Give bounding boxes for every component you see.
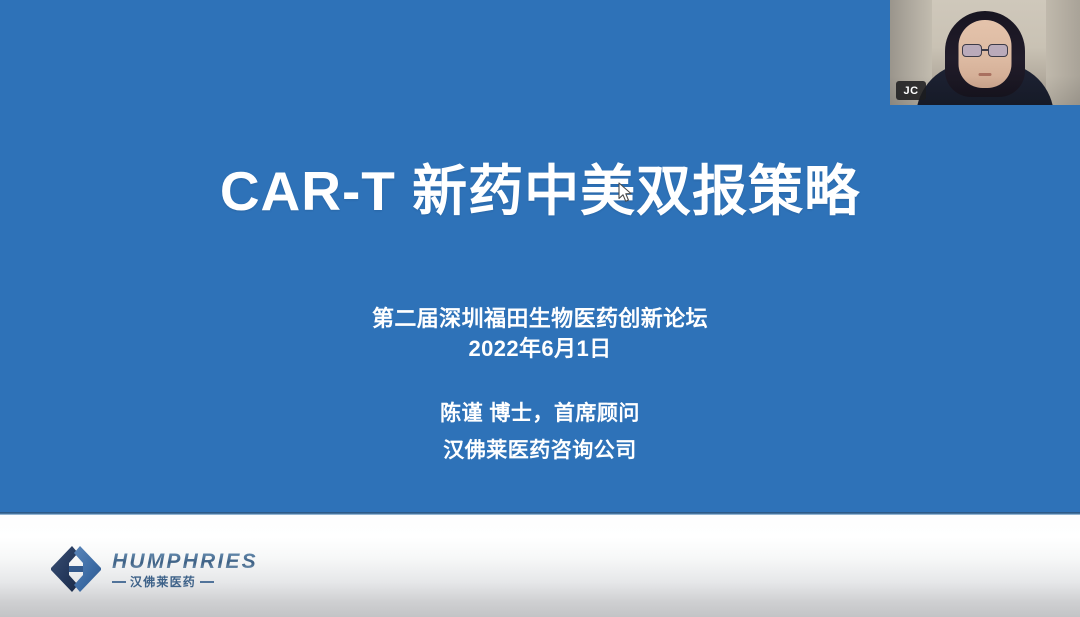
presenter-info-block: 陈谨 博士，首席顾问 汉佛莱医药咨询公司 xyxy=(0,395,1080,470)
presenter-name-title: 陈谨 博士，首席顾问 xyxy=(0,395,1080,432)
company-logo: HUMPHRIES 汉佛莱医药 xyxy=(48,540,268,598)
glasses-lens-left xyxy=(962,44,982,57)
video-wall-right xyxy=(1046,0,1080,105)
participant-mouth xyxy=(979,73,992,76)
logo-sub-wordmark-text: 汉佛莱医药 xyxy=(130,576,196,588)
participant-video-tile[interactable]: JC xyxy=(890,0,1080,105)
glasses-bridge xyxy=(981,49,989,51)
participant-initials-badge: JC xyxy=(896,81,926,100)
logo-sub-wordmark: 汉佛莱医药 xyxy=(112,576,258,588)
event-date: 2022年6月1日 xyxy=(0,334,1080,364)
slide-title: CAR-T 新药中美双报策略 xyxy=(0,160,1080,223)
logo-rule-right xyxy=(200,581,214,583)
logo-rule-left xyxy=(112,581,126,583)
humphries-h-monogram-icon xyxy=(48,542,104,596)
participant-glasses-icon xyxy=(961,44,1009,56)
event-info-block: 第二届深圳福田生物医药创新论坛 2022年6月1日 xyxy=(0,304,1080,365)
glasses-lens-right xyxy=(988,44,1008,57)
logo-text-lockup: HUMPHRIES 汉佛莱医药 xyxy=(112,545,258,593)
logo-wordmark: HUMPHRIES xyxy=(112,551,258,572)
screen-capture: CAR-T 新药中美双报策略 第二届深圳福田生物医药创新论坛 2022年6月1日… xyxy=(0,0,1080,617)
presenter-organization: 汉佛莱医药咨询公司 xyxy=(0,432,1080,469)
event-name: 第二届深圳福田生物医药创新论坛 xyxy=(0,304,1080,334)
